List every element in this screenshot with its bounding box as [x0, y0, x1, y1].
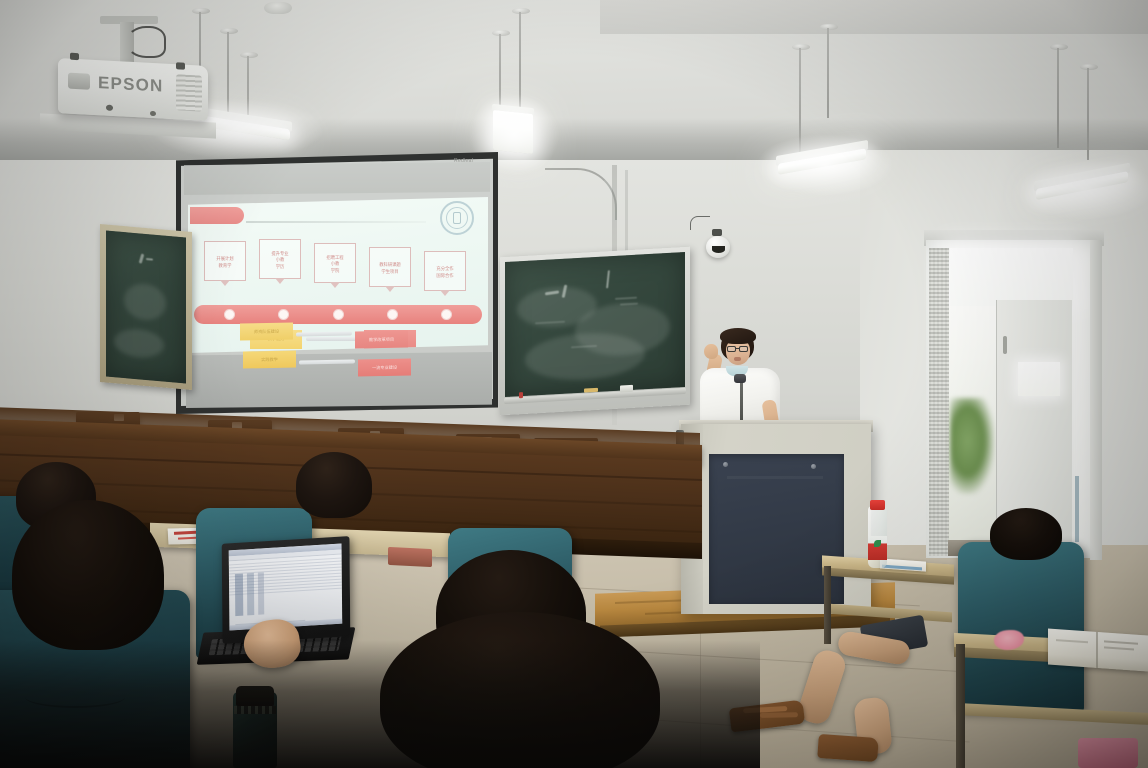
slide-callout: 招聘工程 小教 学院	[314, 243, 356, 283]
door-jamb	[1090, 240, 1102, 560]
projector-cables	[126, 26, 166, 58]
slide-left-box: 师资队伍建设	[240, 322, 293, 340]
timeline-node	[387, 309, 398, 320]
camera-mount	[712, 229, 722, 236]
ceiling-beam	[600, 0, 1148, 34]
bottle-logo-icon	[874, 540, 881, 547]
projector-foot	[106, 105, 113, 111]
dome-security-camera	[706, 236, 730, 258]
light-rod-cap	[492, 30, 510, 36]
student-chair	[958, 542, 1084, 712]
slide-callout: 教科研课题 学生项目	[369, 247, 411, 287]
chalk-stick	[519, 392, 523, 398]
light-rod-cap	[1080, 64, 1098, 70]
light-rod-cap	[820, 24, 838, 30]
projector-foot	[70, 53, 79, 60]
door-handle[interactable]	[1003, 336, 1007, 354]
light-rod-cap	[240, 52, 258, 58]
timeline-node	[441, 309, 452, 320]
classroom-photograph: EPSON Redleaf 开展计划 教育学 提升专业	[0, 0, 1148, 768]
slide-callout: 开展计划 教育学	[204, 241, 246, 281]
projector: EPSON	[58, 58, 208, 121]
right-blackboard-frame	[500, 247, 690, 416]
open-book	[1048, 629, 1148, 672]
podium-fastener	[811, 464, 816, 469]
slide-logo-icon	[440, 201, 474, 235]
student-head	[12, 500, 164, 650]
left-blackboard	[106, 231, 186, 384]
slide-callout: 提升专业 小教 学历	[259, 239, 301, 279]
podium-reflection	[727, 476, 823, 479]
chalk-eraser	[620, 385, 633, 393]
projector-foot	[150, 111, 156, 116]
microphone	[734, 374, 746, 383]
timeline-node	[224, 309, 235, 320]
smoke-detector	[264, 2, 292, 14]
left-blackboard-frame	[100, 224, 192, 390]
screen-top-area	[184, 162, 490, 195]
light-rod-cap	[512, 8, 530, 14]
projector-brand-label: EPSON	[98, 73, 164, 96]
sandal	[817, 734, 879, 762]
presenter-hand	[704, 344, 718, 359]
chalk-stick	[584, 388, 598, 393]
slide-connector	[306, 337, 360, 341]
timeline-node	[333, 309, 344, 320]
light-rod-cap	[1050, 44, 1068, 50]
slide-left-box: 实践教学	[243, 350, 296, 368]
slide-right-box: 一流专业建设	[358, 358, 411, 376]
light-rod-cap	[192, 8, 210, 14]
desk-leg	[956, 644, 965, 768]
slide-right-box: 教学改革项目	[355, 330, 408, 348]
door-vision-panel	[1018, 362, 1060, 396]
light-rod	[799, 48, 801, 152]
timeline-node	[278, 309, 289, 320]
glasses-lens-right	[739, 346, 748, 352]
slide-title-pill	[190, 207, 244, 224]
light-rod	[499, 34, 501, 112]
light-rod	[519, 12, 521, 108]
slide-divider	[246, 221, 426, 223]
projector-foot	[176, 62, 185, 69]
desk-item	[388, 547, 432, 567]
light-rod-cap	[220, 28, 238, 34]
foreground-shadow	[0, 640, 760, 768]
door-transom-window	[950, 248, 1073, 306]
student-head	[296, 452, 372, 518]
glasses-bridge	[736, 348, 740, 349]
bottle-cap	[870, 500, 885, 510]
presentation-slide: 开展计划 教育学 提升专业 小教 学历 招聘工程 小教 学院 教科研课题 学生项…	[188, 197, 488, 353]
right-blackboard	[505, 252, 685, 397]
light-rod-cap	[792, 44, 810, 50]
presenter-mouth	[734, 357, 741, 361]
ceiling-light	[493, 110, 533, 154]
desk-leg	[824, 566, 831, 644]
light-rod	[1057, 48, 1059, 148]
presenter-hair-top	[720, 328, 756, 344]
laptop-screen	[229, 544, 342, 631]
bag-item	[1078, 738, 1138, 768]
camera-wire	[690, 216, 710, 230]
projector-lens	[68, 73, 90, 90]
podium-fastener	[723, 462, 728, 467]
screen-brand-label: Redleaf	[454, 158, 473, 164]
glasses-lens-left	[727, 346, 736, 352]
book-spine	[1096, 632, 1098, 668]
student-head	[990, 508, 1062, 560]
door-screen-curtain	[929, 248, 949, 556]
light-rod	[827, 28, 829, 118]
slide-timeline-bar	[194, 305, 482, 324]
projection-screen: Redleaf 开展计划 教育学 提升专业 小教 学历 招聘工程	[176, 152, 498, 414]
slide-callout: 充分全作 国际合作	[424, 251, 466, 291]
door-stopper	[1075, 476, 1079, 542]
light-rod	[1087, 68, 1089, 160]
camera-lens	[712, 246, 725, 253]
foliage	[950, 398, 994, 494]
projector-vent	[176, 74, 202, 111]
